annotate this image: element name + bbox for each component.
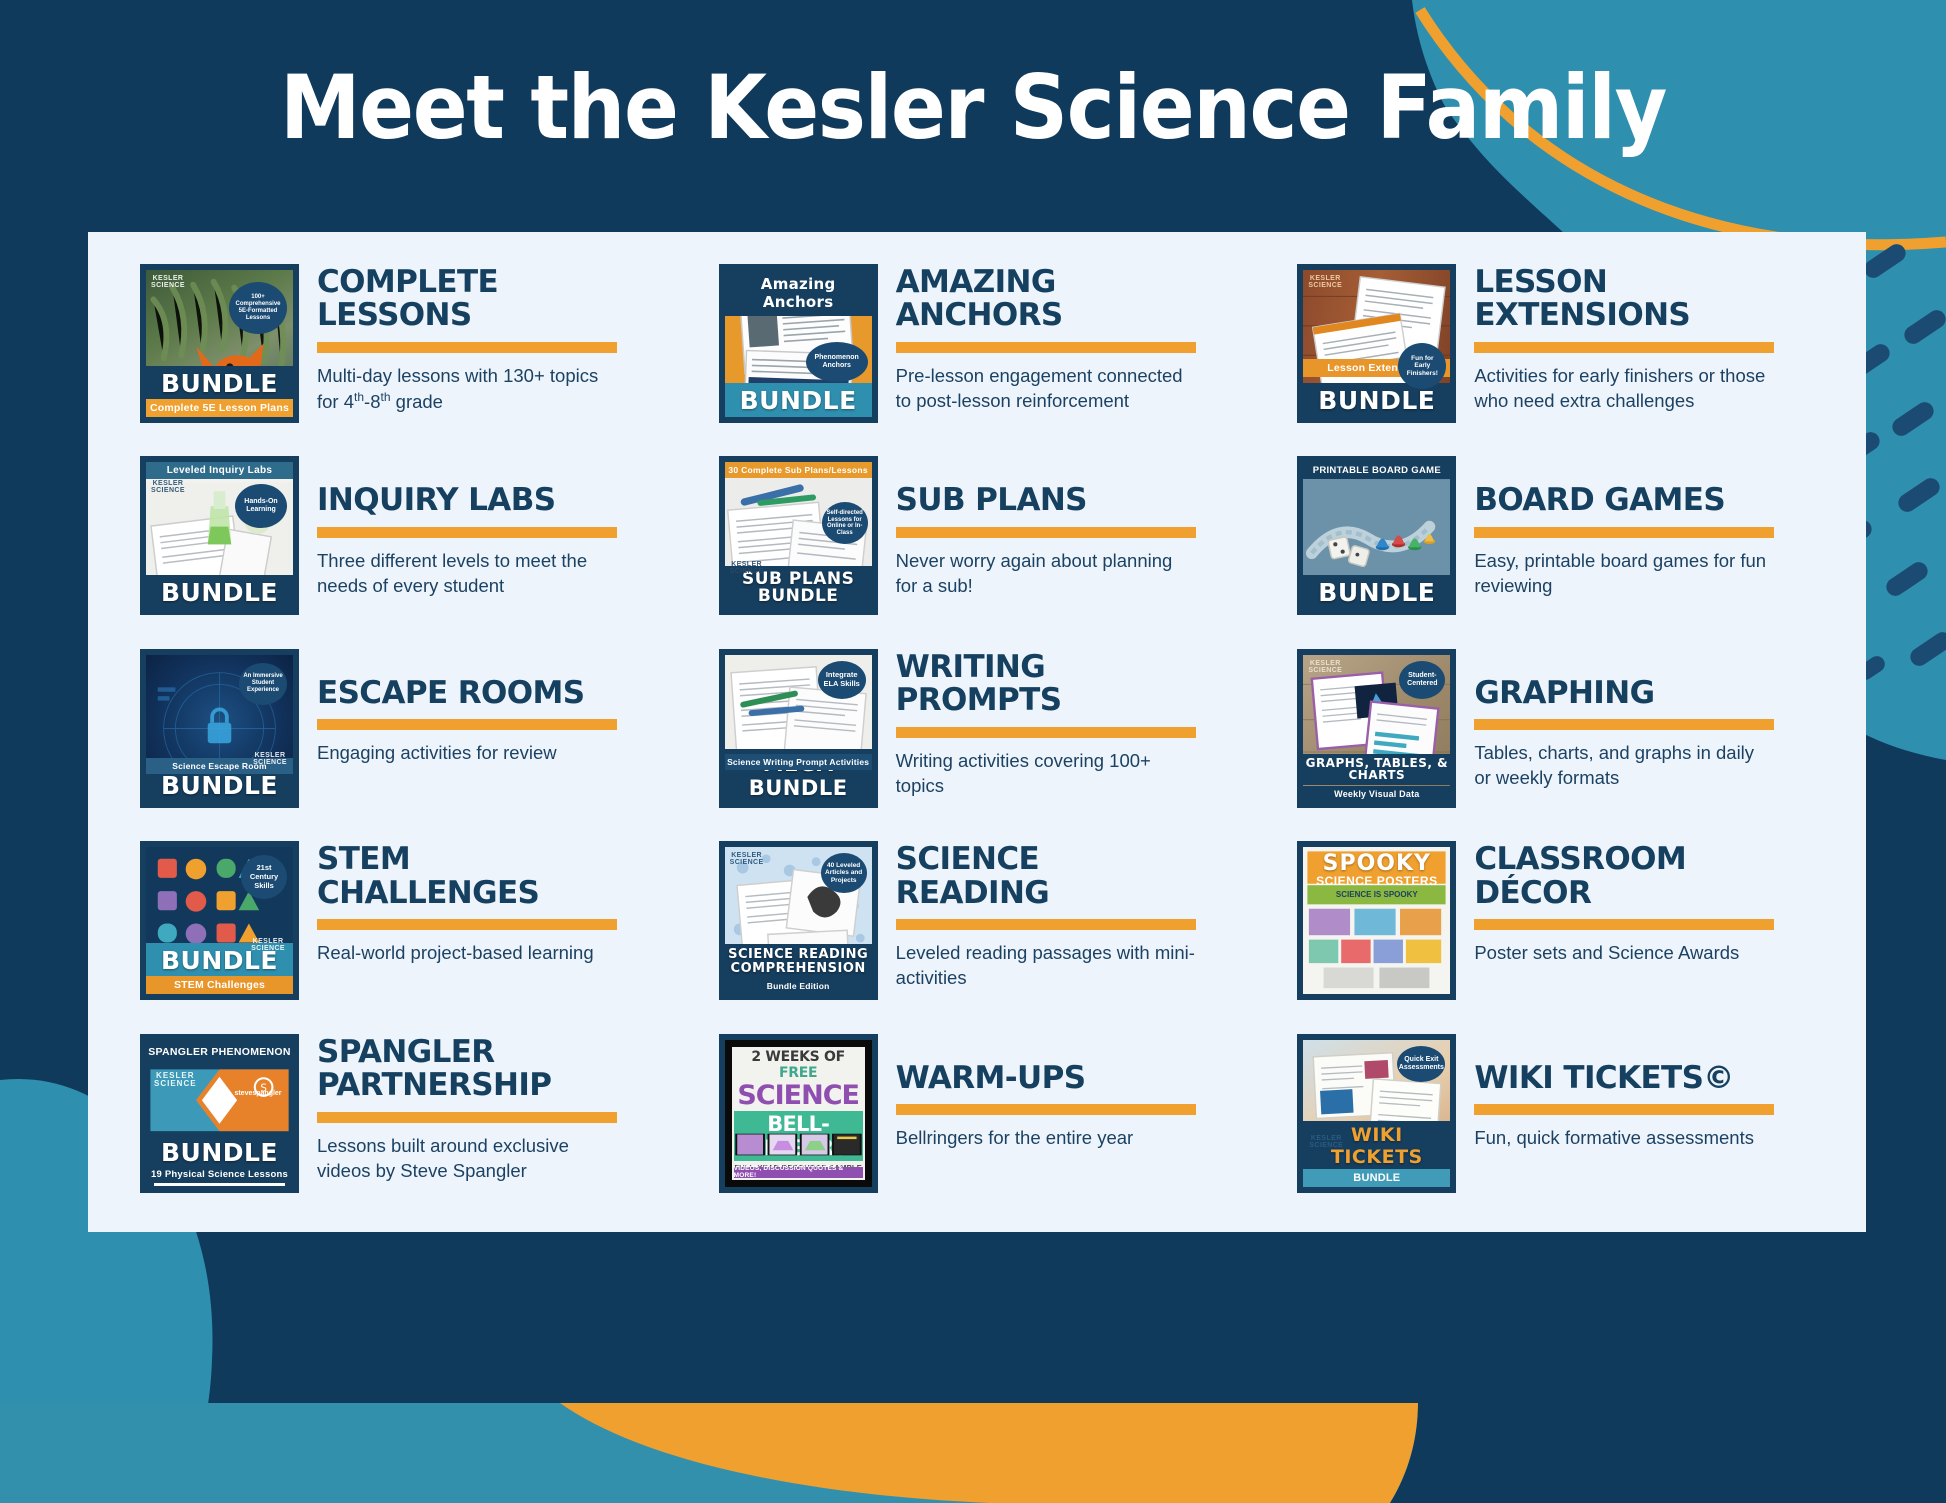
product-card[interactable]: 2 WEEKS OF FREE SCIENCE BELL-RINGERS FUL…	[689, 1024, 1268, 1216]
product-title: AMAZINGANCHORS	[896, 266, 1256, 333]
classroom-decor-thumbnail[interactable]: SPOOKY SCIENCE POSTERS SCIENCE IS SPOOKY	[1297, 841, 1456, 1000]
product-description: Easy, printable board games for fun revi…	[1474, 549, 1774, 599]
product-title-line2: READING	[896, 875, 1050, 911]
product-title: WRITINGPROMPTS	[896, 651, 1256, 718]
product-text: WARM-UPSBellringers for the entire year	[896, 1028, 1256, 1151]
thumbnail-artwork: SPOOKY SCIENCE POSTERS SCIENCE IS SPOOKY	[1303, 847, 1450, 994]
stem-challenges-thumbnail[interactable]: 21st Century Skills KESLERSCIENCE STEM C…	[140, 841, 299, 1000]
science-reading-thumbnail[interactable]: KESLERSCIENCE 40 Leveled Articles and Pr…	[719, 841, 878, 1000]
product-title: ESCAPE ROOMS	[317, 677, 677, 710]
complete-lessons-thumbnail[interactable]: KESLERSCIENCE 100+ Comprehensive 5E-Form…	[140, 264, 299, 423]
product-title: STEMCHALLENGES	[317, 843, 677, 910]
product-title: COMPLETELESSONS	[317, 266, 677, 333]
product-title-line2: DÉCOR	[1474, 875, 1591, 911]
product-description: Tables, charts, and graphs in daily or w…	[1474, 741, 1774, 791]
product-card[interactable]: KESLERSCIENCE Student-Centered Weekly Vi…	[1267, 639, 1846, 831]
product-title: BOARD GAMES	[1474, 484, 1834, 517]
product-description: Engaging activities for review	[317, 741, 617, 766]
product-card[interactable]: KESLERSCIENCE Quick Exit Assessments BUN…	[1267, 1024, 1846, 1216]
wiki-tickets-thumbnail[interactable]: KESLERSCIENCE Quick Exit Assessments BUN…	[1297, 1034, 1456, 1193]
product-description: Real-world project-based learning	[317, 941, 617, 966]
thumbnail-artwork: An Immersive Student Experience KESLERSC…	[146, 655, 293, 802]
product-title-line2: LESSONS	[317, 297, 472, 333]
product-description: Poster sets and Science Awards	[1474, 941, 1774, 966]
product-card[interactable]: KESLERSCIENCE Fun for Early Finishers! L…	[1267, 254, 1846, 446]
product-card[interactable]: An Immersive Student Experience KESLERSC…	[110, 639, 689, 831]
product-text: ESCAPE ROOMSEngaging activities for revi…	[317, 643, 677, 766]
thumbnail-artwork: Integrate ELA Skills Science Writing Pro…	[725, 655, 872, 802]
thumbnail-artwork: PRINTABLE BOARD GAME BUNDLE	[1303, 462, 1450, 609]
product-text: SUB PLANSNever worry again about plannin…	[896, 450, 1256, 598]
teal-wedge-bottom-left	[0, 1403, 211, 1503]
thumbnail-artwork: Amazing Anchors Phenomenon Anchors BUNDL…	[725, 270, 872, 417]
product-title: SCIENCEREADING	[896, 843, 1256, 910]
orange-divider	[896, 727, 1196, 738]
content-panel: KESLERSCIENCE 100+ Comprehensive 5E-Form…	[88, 232, 1866, 1232]
product-description: Pre-lesson engagement connected to post-…	[896, 364, 1196, 414]
product-text: GRAPHINGTables, charts, and graphs in da…	[1474, 643, 1834, 791]
escape-rooms-thumbnail[interactable]: An Immersive Student Experience KESLERSC…	[140, 649, 299, 808]
product-description: Leveled reading passages with mini-activ…	[896, 941, 1196, 991]
product-title: SPANGLERPARTNERSHIP	[317, 1036, 677, 1103]
board-games-thumbnail[interactable]: PRINTABLE BOARD GAME BUNDLE	[1297, 456, 1456, 615]
product-title: CLASSROOMDÉCOR	[1474, 843, 1834, 910]
inquiry-labs-thumbnail[interactable]: Leveled Inquiry Labs KESLERSCIENCE Hands…	[140, 456, 299, 615]
orange-divider	[896, 919, 1196, 930]
product-text: CLASSROOMDÉCORPoster sets and Science Aw…	[1474, 835, 1834, 966]
product-text: SCIENCEREADINGLeveled reading passages w…	[896, 835, 1256, 991]
thumbnail-artwork: KESLERSCIENCE 40 Leveled Articles and Pr…	[725, 847, 872, 994]
product-text: WIKI TICKETS©Fun, quick formative assess…	[1474, 1028, 1834, 1151]
product-title-line2: PARTNERSHIP	[317, 1067, 551, 1103]
graphing-thumbnail[interactable]: KESLERSCIENCE Student-Centered Weekly Vi…	[1297, 649, 1456, 808]
product-title-line2: CHALLENGES	[317, 875, 539, 911]
warm-ups-thumbnail[interactable]: 2 WEEKS OF FREE SCIENCE BELL-RINGERS FUL…	[719, 1034, 878, 1193]
product-card[interactable]: SPOOKY SCIENCE POSTERS SCIENCE IS SPOOKY…	[1267, 831, 1846, 1023]
orange-divider	[1474, 919, 1774, 930]
orange-divider	[1474, 342, 1774, 353]
orange-divider	[1474, 1104, 1774, 1115]
thumbnail-artwork: KESLERSCIENCE Quick Exit Assessments BUN…	[1303, 1040, 1450, 1187]
product-text: BOARD GAMESEasy, printable board games f…	[1474, 450, 1834, 598]
thumbnail-artwork: 30 Complete Sub Plans/Lessons KESLERSCIE…	[725, 462, 872, 609]
product-title: GRAPHING	[1474, 677, 1834, 710]
orange-divider	[317, 919, 617, 930]
product-description: Bellringers for the entire year	[896, 1126, 1196, 1151]
product-description: Fun, quick formative assessments	[1474, 1126, 1774, 1151]
orange-divider	[317, 527, 617, 538]
product-title: WARM-UPS	[896, 1062, 1256, 1095]
navy-shape-bottom-right	[1390, 1403, 1946, 1503]
product-text: COMPLETELESSONSMulti-day lessons with 13…	[317, 258, 677, 415]
product-text: WRITINGPROMPTSWriting activities coverin…	[896, 643, 1256, 799]
product-card[interactable]: KESLERSCIENCE 100+ Comprehensive 5E-Form…	[110, 254, 689, 446]
product-text: LESSONEXTENSIONSActivities for early fin…	[1474, 258, 1834, 414]
product-card[interactable]: Leveled Inquiry Labs KESLERSCIENCE Hands…	[110, 446, 689, 638]
product-description: Writing activities covering 100+ topics	[896, 749, 1196, 799]
product-description: Three different levels to meet the needs…	[317, 549, 617, 599]
amazing-anchors-thumbnail[interactable]: Amazing Anchors Phenomenon Anchors BUNDL…	[719, 264, 878, 423]
product-title-line2: ANCHORS	[896, 297, 1063, 333]
orange-divider	[896, 1104, 1196, 1115]
orange-divider	[896, 342, 1196, 353]
thumbnail-artwork: KESLERSCIENCE Fun for Early Finishers! L…	[1303, 270, 1450, 417]
product-description: Activities for early finishers or those …	[1474, 364, 1774, 414]
product-card[interactable]: 30 Complete Sub Plans/Lessons KESLERSCIE…	[689, 446, 1268, 638]
product-card[interactable]: 21st Century Skills KESLERSCIENCE STEM C…	[110, 831, 689, 1023]
product-description: Lessons built around exclusive videos by…	[317, 1134, 617, 1184]
product-title: WIKI TICKETS©	[1474, 1062, 1834, 1095]
orange-divider	[317, 1112, 617, 1123]
writing-prompts-thumbnail[interactable]: Integrate ELA Skills Science Writing Pro…	[719, 649, 878, 808]
orange-divider	[317, 342, 617, 353]
product-description: Multi-day lessons with 130+ topics for 4…	[317, 364, 617, 415]
thumbnail-artwork: 2 WEEKS OF FREE SCIENCE BELL-RINGERS FUL…	[725, 1040, 872, 1187]
product-card[interactable]: SPANGLER PHENOMENON S KESLERSCIENCE stev…	[110, 1024, 689, 1216]
product-title-line2: PROMPTS	[896, 682, 1062, 718]
product-title: LESSONEXTENSIONS	[1474, 266, 1834, 333]
product-card[interactable]: Integrate ELA Skills Science Writing Pro…	[689, 639, 1268, 831]
product-card[interactable]: PRINTABLE BOARD GAME BUNDLEBOARD GAMESEa…	[1267, 446, 1846, 638]
product-grid: KESLERSCIENCE 100+ Comprehensive 5E-Form…	[88, 232, 1866, 1232]
product-text: INQUIRY LABSThree different levels to me…	[317, 450, 677, 598]
thumbnail-artwork: KESLERSCIENCE 100+ Comprehensive 5E-Form…	[146, 270, 293, 417]
orange-divider	[317, 719, 617, 730]
thumbnail-artwork: SPANGLER PHENOMENON S KESLERSCIENCE stev…	[146, 1040, 293, 1187]
product-text: SPANGLERPARTNERSHIPLessons built around …	[317, 1028, 677, 1184]
orange-divider	[1474, 527, 1774, 538]
orange-divider	[1474, 719, 1774, 730]
spangler-partnership-thumbnail[interactable]: SPANGLER PHENOMENON S KESLERSCIENCE stev…	[140, 1034, 299, 1193]
thumbnail-artwork: Leveled Inquiry Labs KESLERSCIENCE Hands…	[146, 462, 293, 609]
product-text: STEMCHALLENGESReal-world project-based l…	[317, 835, 677, 966]
product-title-line2: EXTENSIONS	[1474, 297, 1690, 333]
product-title: SUB PLANS	[896, 484, 1256, 517]
orange-divider	[896, 527, 1196, 538]
page-title: Meet the Kesler Science Family	[78, 62, 1868, 154]
lesson-extensions-thumbnail[interactable]: KESLERSCIENCE Fun for Early Finishers! L…	[1297, 264, 1456, 423]
product-description: Never worry again about planning for a s…	[896, 549, 1196, 599]
product-card[interactable]: Amazing Anchors Phenomenon Anchors BUNDL…	[689, 254, 1268, 446]
thumbnail-artwork: KESLERSCIENCE Student-Centered Weekly Vi…	[1303, 655, 1450, 802]
product-card[interactable]: KESLERSCIENCE 40 Leveled Articles and Pr…	[689, 831, 1268, 1023]
product-text: AMAZINGANCHORSPre-lesson engagement conn…	[896, 258, 1256, 414]
thumbnail-artwork: 21st Century Skills KESLERSCIENCE STEM C…	[146, 847, 293, 994]
product-title: INQUIRY LABS	[317, 484, 677, 517]
sub-plans-thumbnail[interactable]: 30 Complete Sub Plans/Lessons KESLERSCIE…	[719, 456, 878, 615]
